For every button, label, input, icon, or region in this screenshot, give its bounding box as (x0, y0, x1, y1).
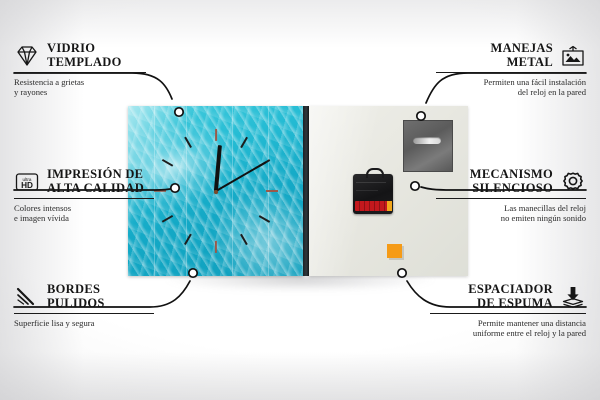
callout-divider (14, 198, 154, 199)
diamond-icon (14, 44, 40, 68)
clock-tick (215, 129, 217, 141)
callout-title: MANEJAS METAL (490, 42, 553, 69)
callout-title: VIDRIO TEMPLADO (47, 42, 122, 69)
callout-body: Resistencia a grietas y rayones (14, 77, 146, 98)
clock-tick (215, 241, 217, 253)
clock-center-pin (214, 190, 218, 194)
clock-tick (161, 215, 172, 223)
callout-divider (14, 72, 146, 73)
polished-edges-icon (14, 285, 40, 309)
callout-body: Las manecillas del reloj no emiten ningú… (436, 203, 586, 224)
callout-body: Permite mantener una distancia uniforme … (430, 318, 586, 339)
clock-tick (184, 234, 192, 245)
svg-text:HD: HD (21, 181, 33, 190)
clock-mechanism (353, 174, 393, 214)
foam-spacer-icon (560, 285, 586, 309)
ultra-hd-icon: ultra HD (14, 170, 40, 194)
callout-divider (436, 198, 586, 199)
battery-compartment (355, 201, 391, 211)
callout-title: ESPACIADOR DE ESPUMA (468, 283, 553, 310)
callout-title: IMPRESIÓN DE ALTA CALIDAD (47, 168, 144, 195)
callout-vidrio-templado[interactable]: VIDRIO TEMPLADO Resistencia a grietas y … (14, 42, 146, 98)
wall-mount-icon (560, 44, 586, 68)
callout-body: Superficie lisa y segura (14, 318, 154, 328)
callout-title: MECANISMO SILENCIOSO (470, 168, 553, 195)
callout-body: Permiten una fácil instalación del reloj… (436, 77, 586, 98)
callout-divider (430, 313, 586, 314)
callout-divider (436, 72, 586, 73)
wall-mount-slot (413, 137, 441, 144)
clock-front-panel (128, 106, 303, 276)
clock-tick (240, 137, 248, 148)
callout-espaciador-espuma[interactable]: ESPACIADOR DE ESPUMA Permite mantener un… (430, 283, 586, 339)
callout-body: Colores intensos e imagen vívida (14, 203, 154, 224)
mechanism-detail (356, 182, 386, 183)
clock-tick (258, 215, 269, 223)
callout-divider (14, 313, 154, 314)
mechanism-detail (356, 190, 378, 191)
clock-tick (240, 234, 248, 245)
clock-tick (154, 190, 166, 192)
callout-manejas-metal[interactable]: MANEJAS METAL Permiten una fácil instala… (436, 42, 586, 98)
clock-minute-hand (215, 161, 266, 191)
callout-mecanismo-silencioso[interactable]: MECANISMO SILENCIOSO Las manecillas del … (436, 168, 586, 224)
product-image (128, 106, 468, 278)
foam-spacer-pad (387, 244, 402, 258)
clock-tick (266, 190, 278, 192)
battery-terminal (387, 201, 392, 211)
callout-title: BORDES PULIDOS (47, 283, 105, 310)
callout-bordes-pulidos[interactable]: BORDES PULIDOS Superficie lisa y segura (14, 283, 154, 328)
clock-tick (184, 137, 192, 148)
mechanism-hook (366, 168, 384, 178)
callout-impresion-alta-calidad[interactable]: ultra HD IMPRESIÓN DE ALTA CALIDAD Color… (14, 168, 154, 224)
clock-tick (161, 159, 172, 167)
clock-hour-hand (213, 145, 221, 191)
infographic-canvas: VIDRIO TEMPLADO Resistencia a grietas y … (0, 0, 600, 400)
clock-face (128, 106, 303, 276)
gear-icon (560, 170, 586, 194)
metal-wall-mount (403, 120, 453, 172)
